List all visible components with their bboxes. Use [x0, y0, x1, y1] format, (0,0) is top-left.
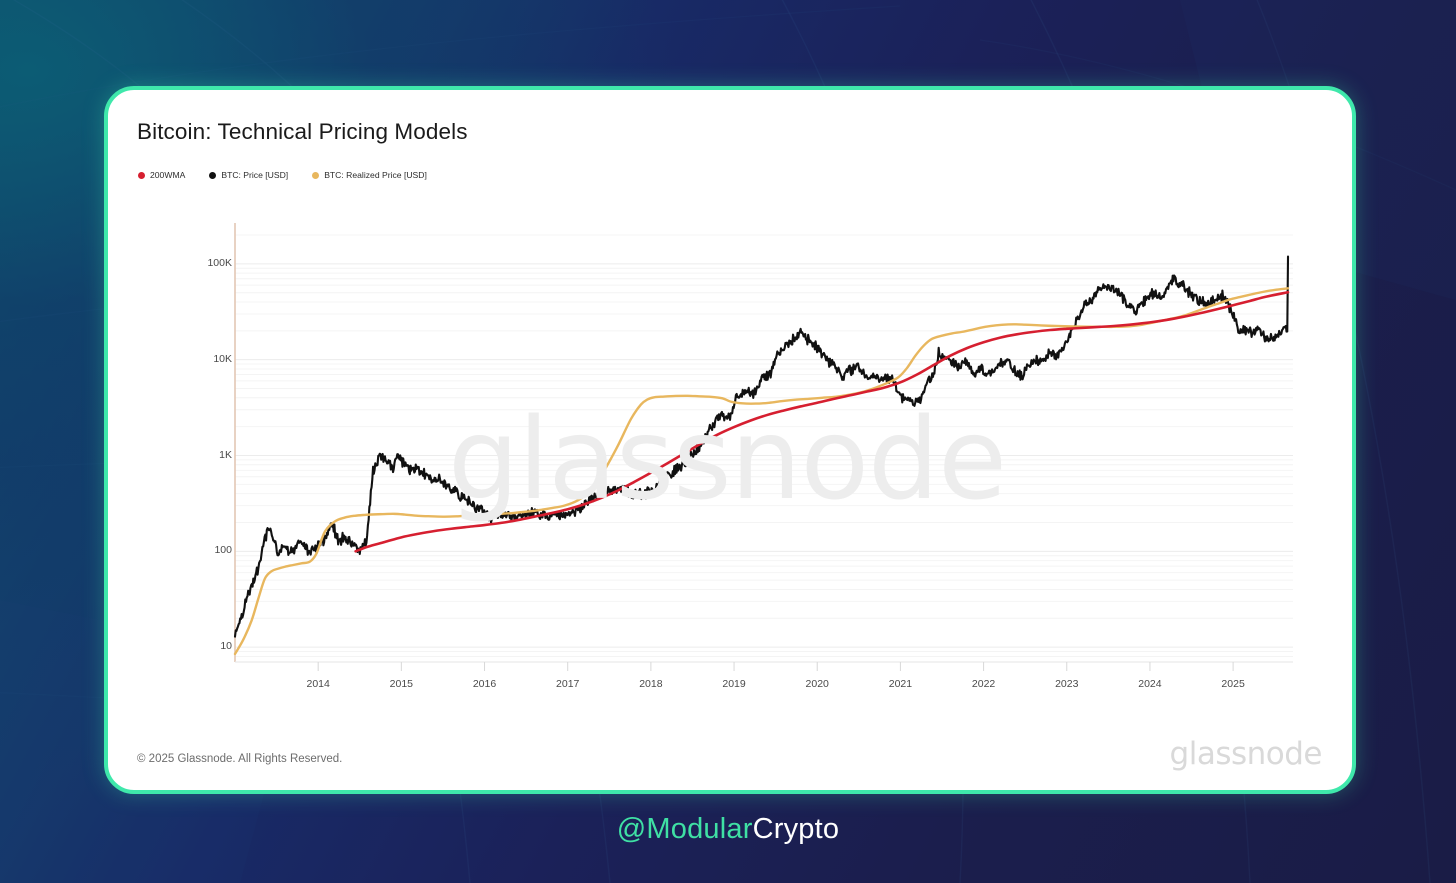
social-handle: @ModularCrypto — [0, 813, 1456, 846]
x-axis-ticks — [318, 662, 1233, 671]
handle-suffix: Crypto — [753, 813, 840, 845]
chart-card: Bitcoin: Technical Pricing Models 200WMA… — [104, 86, 1356, 794]
x-axis-tick-label: 2017 — [556, 678, 579, 690]
y-axis-tick-label: 10 — [220, 640, 232, 652]
x-axis-tick-label: 2025 — [1221, 678, 1244, 690]
x-axis-tick-label: 2021 — [889, 678, 912, 690]
y-axis-tick-label: 100K — [207, 257, 232, 269]
x-axis-tick-label: 2016 — [473, 678, 496, 690]
chart-plot-area: glassnode 101001K10K100K 201420152016201… — [108, 90, 1356, 794]
y-axis-tick-label: 100 — [214, 544, 232, 556]
y-axis-tick-label: 1K — [219, 449, 232, 461]
x-axis-tick-label: 2014 — [306, 678, 329, 690]
chart-watermark: glassnode — [448, 395, 1006, 525]
y-axis-tick-label: 10K — [213, 353, 232, 365]
x-axis-tick-label: 2022 — [972, 678, 995, 690]
x-axis-tick-label: 2018 — [639, 678, 662, 690]
x-axis-tick-label: 2015 — [390, 678, 413, 690]
copyright-text: © 2025 Glassnode. All Rights Reserved. — [137, 753, 342, 765]
x-axis-tick-label: 2020 — [806, 678, 829, 690]
x-axis-tick-label: 2019 — [722, 678, 745, 690]
handle-prefix: @Modular — [617, 813, 753, 845]
x-axis-tick-label: 2023 — [1055, 678, 1078, 690]
glassnode-logo: glassnode — [1170, 736, 1322, 772]
x-axis-tick-label: 2024 — [1138, 678, 1161, 690]
x-axis-labels: 2014201520162017201820192020202120222023… — [108, 678, 1356, 718]
